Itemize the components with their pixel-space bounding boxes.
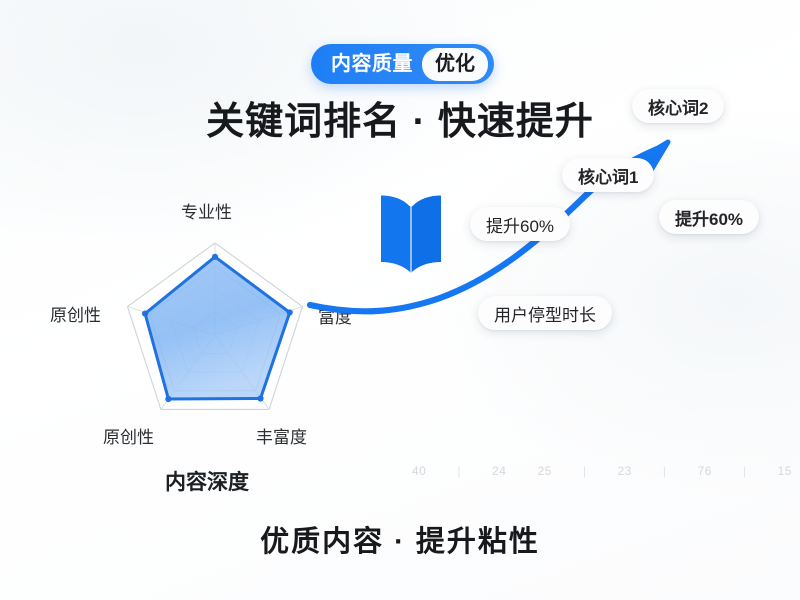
scale-tick: |	[583, 464, 587, 478]
scale-tick: |	[663, 464, 667, 478]
radar-axis-label-originality-bottom: 原创性	[103, 423, 154, 448]
poster-canvas: 内容质量 优化 关键词排名 · 快速提升	[0, 0, 800, 600]
callout-dwell-time[interactable]: 用户停型时长	[478, 296, 612, 330]
radar-axis-label-abundance: 丰富度	[256, 423, 307, 448]
scale-item: 25	[537, 464, 551, 478]
callout-keyword-1[interactable]: 核心词1	[562, 158, 654, 192]
content-quality-badge[interactable]: 内容质量 优化	[311, 44, 494, 84]
badge-label: 内容质量	[331, 54, 422, 74]
scale-item: 15	[778, 464, 792, 478]
scale-item: 40	[412, 464, 426, 478]
callout-uplift-right[interactable]: 提升60%	[659, 200, 759, 234]
callout-uplift-left[interactable]: 提升60%	[470, 207, 570, 241]
scale-item: 24	[492, 464, 506, 478]
callout-keyword-2[interactable]: 核心词2	[632, 89, 724, 123]
page-subtitle: 优质内容 · 提升粘性	[0, 518, 800, 560]
scale-tick: |	[457, 464, 461, 478]
radar-axis-label-professional: 专业性	[181, 198, 232, 223]
scale-tick: |	[743, 464, 747, 478]
scale-item: 23	[617, 464, 631, 478]
open-book-icon	[374, 186, 448, 283]
radar-caption: 内容深度	[165, 466, 249, 496]
faint-scale-strip: 40 | 24 25 | 23 | 76 | 15	[412, 464, 792, 478]
badge-chip: 优化	[422, 48, 488, 81]
radar-axis-label-originality-left: 原创性	[50, 301, 101, 326]
scale-item: 76	[698, 464, 712, 478]
